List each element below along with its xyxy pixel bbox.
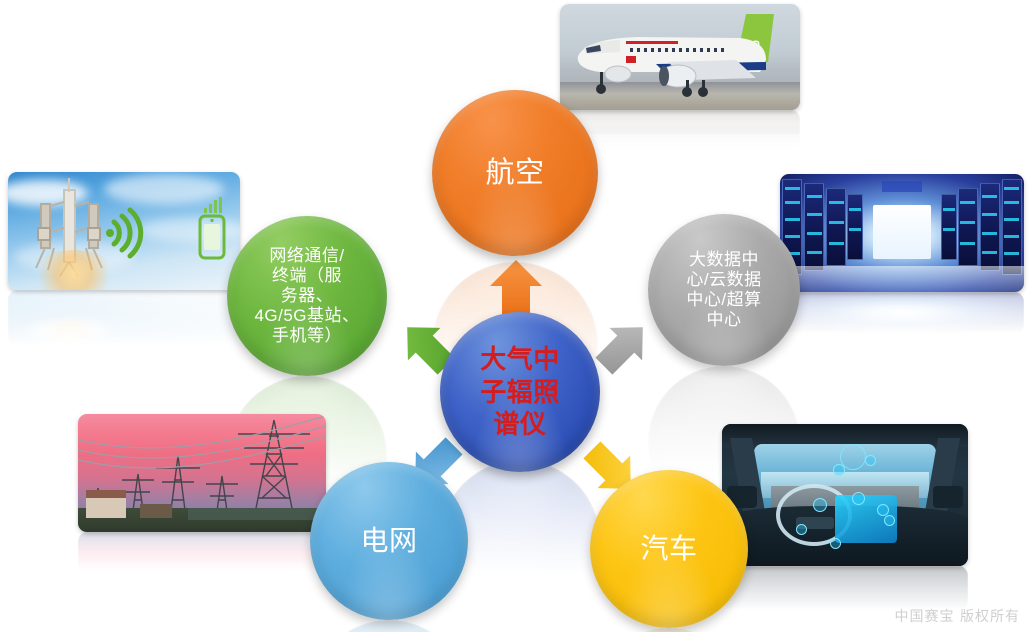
airplane-c919-photo-reflection [560,110,800,150]
smart-car-interior-photo-reflection [722,566,968,610]
smart-car-interior-photo [722,424,968,566]
diagram-canvas: C919 [0,0,1032,632]
node-center-label: 大气中 子辐照 谱仪 [472,343,568,441]
node-automotive-label: 汽车 [632,532,705,565]
copyright-watermark: 中国赛宝 版权所有 [895,606,1020,626]
power-transmission-towers-photo-reflection [78,532,326,572]
node-automotive[interactable]: 汽车 [590,470,748,628]
server-room-photo [780,174,1024,292]
node-grid-label: 电网 [352,524,425,557]
node-network[interactable]: 网络通信/ 终端（服 务器、 4G/5G基站、 手机等） [227,216,387,376]
node-grid[interactable]: 电网 [310,462,468,620]
arrow-to-aviation [488,258,544,320]
arrow-to-datacenter [592,316,654,378]
node-automotive-reflection [590,628,748,632]
airplane-c919-photo: C919 [560,4,800,110]
node-network-label: 网络通信/ 终端（服 务器、 4G/5G基站、 手机等） [246,246,367,346]
airplane-icon: C919 [560,4,800,110]
server-room-photo-reflection [780,292,1024,334]
node-center[interactable]: 大气中 子辐照 谱仪 [440,312,600,472]
node-datacenter[interactable]: 大数据中 心/云数据 中心/超算 中心 [648,214,800,366]
power-transmission-towers-photo [78,414,326,532]
node-aviation[interactable]: 航空 [432,90,598,256]
node-grid-reflection [310,620,468,632]
cell-tower-photo [8,172,240,290]
cell-tower-photo-reflection [8,290,240,346]
node-aviation-label: 航空 [477,156,552,190]
node-datacenter-label: 大数据中 心/云数据 中心/超算 中心 [678,250,769,330]
